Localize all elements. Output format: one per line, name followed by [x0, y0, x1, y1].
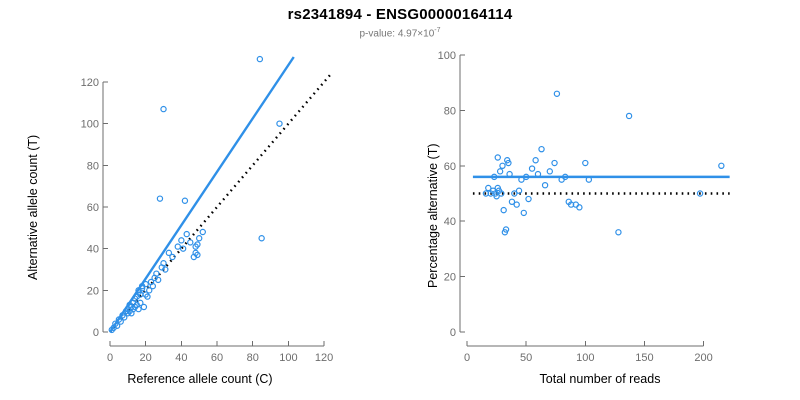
x-axis-tick-label: 200 [694, 352, 712, 364]
data-point [552, 160, 557, 165]
data-point [516, 188, 521, 193]
data-point [184, 231, 189, 236]
right-y-axis-label: Percentage alternative (T) [426, 143, 440, 288]
right-plot-canvas: 020406080100050100150200 [400, 0, 800, 400]
data-point [259, 236, 264, 241]
data-point [141, 304, 146, 309]
x-axis-tick-label: 0 [107, 352, 113, 364]
right-x-axis-label: Total number of reads [400, 372, 800, 386]
data-point [495, 155, 500, 160]
y-axis-tick-label: 100 [438, 50, 456, 62]
data-point [554, 91, 559, 96]
data-point [626, 113, 631, 118]
data-point [547, 169, 552, 174]
y-axis-tick-label: 40 [87, 244, 99, 256]
figure-container: rs2341894 - ENSG00000164114 p-value: 4.9… [0, 0, 800, 400]
y-axis-tick-label: 0 [93, 327, 99, 339]
data-point [157, 196, 162, 201]
x-axis-tick-label: 40 [175, 352, 187, 364]
left-scatter-panel: 020406080100120020406080100120 Reference… [0, 0, 400, 400]
fit-line [110, 57, 294, 332]
data-point [583, 160, 588, 165]
data-point [498, 169, 503, 174]
x-axis-tick-label: 120 [315, 352, 333, 364]
data-point [529, 166, 534, 171]
data-point [616, 230, 621, 235]
data-point [277, 121, 282, 126]
data-point [182, 198, 187, 203]
x-axis-tick-label: 150 [635, 352, 653, 364]
data-point [526, 196, 531, 201]
left-plot-canvas: 020406080100120020406080100120 [0, 0, 400, 400]
x-axis-tick-label: 60 [211, 352, 223, 364]
y-axis-tick-label: 80 [444, 105, 456, 117]
x-axis-tick-label: 50 [520, 352, 532, 364]
data-point [257, 56, 262, 61]
y-axis-tick-label: 80 [87, 160, 99, 172]
data-point [181, 246, 186, 251]
y-axis-tick-label: 100 [81, 119, 99, 131]
x-axis-tick-label: 100 [576, 352, 594, 364]
data-point [500, 163, 505, 168]
y-axis-tick-label: 40 [444, 216, 456, 228]
data-point [197, 236, 202, 241]
data-point [161, 106, 166, 111]
x-axis-tick-label: 0 [464, 352, 470, 364]
data-point [175, 244, 180, 249]
x-axis-tick-label: 20 [140, 352, 152, 364]
y-axis-tick-label: 20 [87, 285, 99, 297]
data-point [577, 205, 582, 210]
data-point [514, 202, 519, 207]
y-axis-tick-label: 60 [87, 202, 99, 214]
right-scatter-panel: 020406080100050100150200 Total number of… [400, 0, 800, 400]
left-y-axis-label: Alternative allele count (T) [26, 135, 40, 280]
data-point [539, 147, 544, 152]
data-point [542, 183, 547, 188]
data-point [188, 240, 193, 245]
x-axis-tick-label: 80 [247, 352, 259, 364]
data-point [719, 163, 724, 168]
data-point [179, 238, 184, 243]
data-point [533, 158, 538, 163]
y-axis-tick-label: 120 [81, 77, 99, 89]
data-point [521, 210, 526, 215]
y-axis-tick-label: 0 [450, 327, 456, 339]
y-axis-tick-label: 20 [444, 272, 456, 284]
data-point [501, 208, 506, 213]
data-point [200, 229, 205, 234]
y-axis-tick-label: 60 [444, 161, 456, 173]
left-x-axis-label: Reference allele count (C) [0, 372, 400, 386]
x-axis-tick-label: 100 [279, 352, 297, 364]
